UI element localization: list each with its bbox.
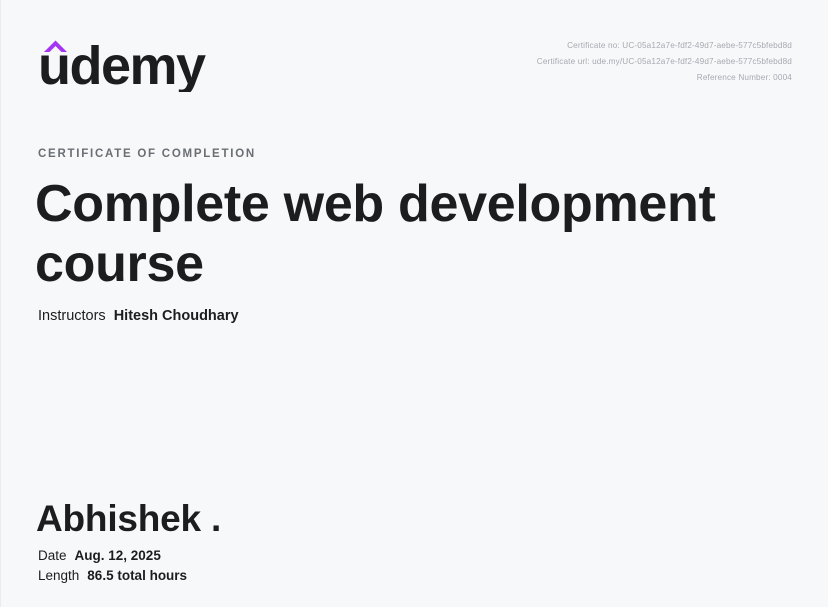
certificate-url: Certificate url: ude.my/UC-05a12a7e-fdf2… [537, 54, 792, 70]
certificate-number: Certificate no: UC-05a12a7e-fdf2-49d7-ae… [537, 38, 792, 54]
date-row: DateAug. 12, 2025 [38, 546, 187, 566]
course-title: Complete web development course [35, 174, 795, 294]
reference-number: Reference Number: 0004 [537, 70, 792, 86]
certificate-meta: Certificate no: UC-05a12a7e-fdf2-49d7-ae… [537, 38, 792, 86]
recipient-name: Abhishek . [36, 496, 221, 542]
instructors-label: Instructors [38, 308, 106, 324]
certificate-header: udemy Certificate no: UC-05a12a7e-fdf2-4… [1, 0, 828, 110]
length-row: Length86.5 total hours [38, 566, 187, 586]
certificate-page: udemy Certificate no: UC-05a12a7e-fdf2-4… [0, 0, 828, 607]
length-label: Length [38, 568, 79, 583]
certificate-facts: DateAug. 12, 2025 Length86.5 total hours [38, 546, 187, 586]
certificate-eyebrow: CERTIFICATE OF COMPLETION [38, 148, 256, 160]
length-value: 86.5 total hours [87, 568, 187, 583]
date-label: Date [38, 548, 67, 563]
instructors-row: InstructorsHitesh Choudhary [38, 306, 239, 326]
udemy-logo: udemy [38, 30, 228, 92]
instructors-value: Hitesh Choudhary [114, 308, 239, 324]
svg-text:udemy: udemy [38, 36, 206, 92]
date-value: Aug. 12, 2025 [75, 548, 161, 563]
